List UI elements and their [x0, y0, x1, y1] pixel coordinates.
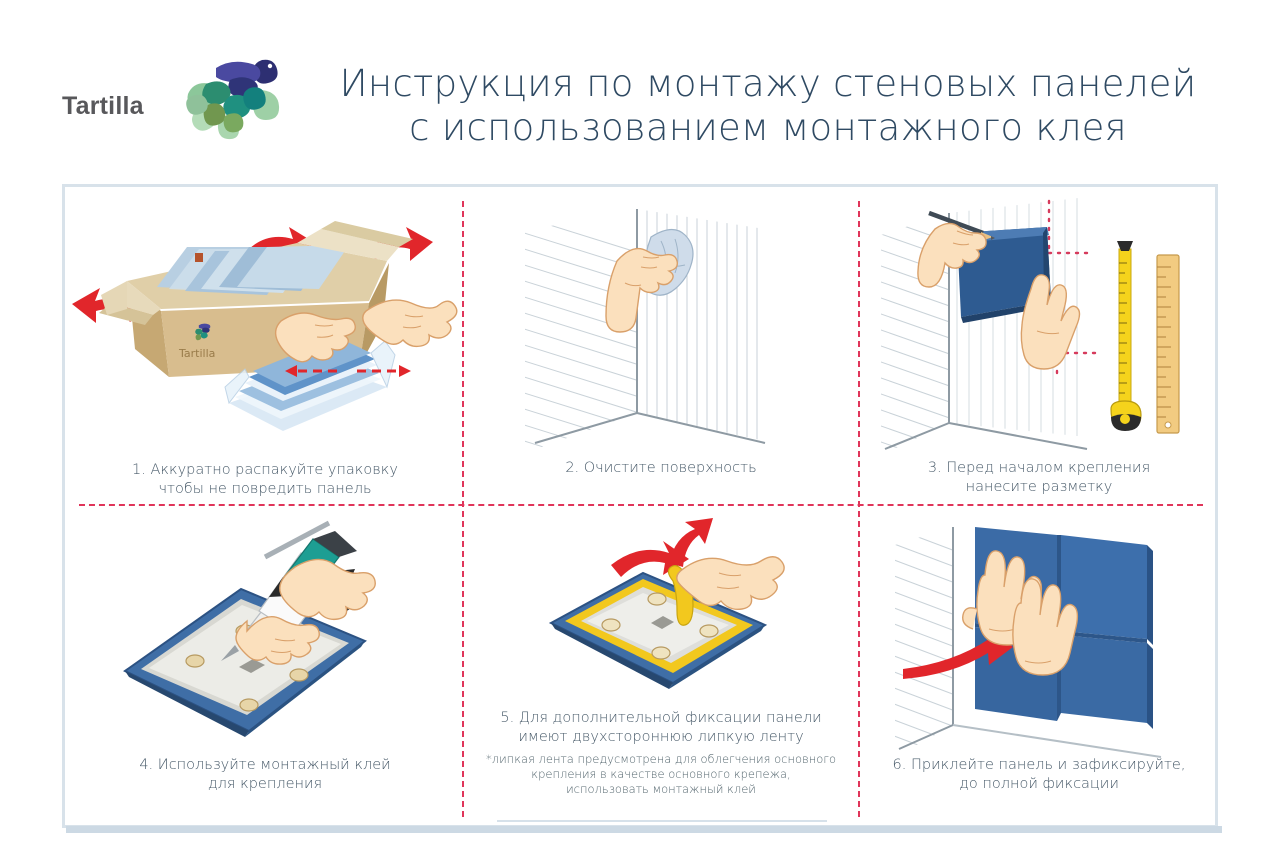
step-5-underline [497, 820, 827, 822]
step-caption-2-line-1: 2. Очистите поверхность [565, 460, 756, 476]
instruction-grid: Tartilla [62, 184, 1218, 828]
step-caption-3-line-2: нанесите разметку [966, 479, 1113, 495]
step-caption-6-line-2: до полной фиксации [959, 776, 1119, 792]
illustration-pressing-panels-on-wall [861, 513, 1217, 757]
step-5-footnote-line-1: *липкая лента предусмотрена для облегчен… [486, 752, 836, 766]
tape-measure-icon [1111, 241, 1141, 431]
step-caption-2: 2. Очистите поверхность [465, 459, 857, 478]
grid-divider-vertical-1 [462, 201, 464, 817]
step-5-footnote-line-2: крепления в качестве основного крепежа, [531, 767, 790, 781]
ruler-icon [1157, 255, 1179, 433]
illustration-hand-wiping-wall [465, 191, 857, 463]
step-caption-1-line-1: 1. Аккуратно распакуйте упаковку [132, 462, 398, 478]
step-caption-1-line-2: чтобы не повредить панель [158, 481, 371, 497]
brand-name: Tartilla [62, 92, 144, 121]
step-caption-1: 1. Аккуратно распакуйте упаковку чтобы н… [69, 461, 461, 499]
illustration-marking-with-pencil-ruler-tape [861, 191, 1217, 463]
step-caption-4-line-2: для крепления [208, 776, 322, 792]
step-cell-1: Tartilla [69, 191, 461, 503]
hand-right-icon [363, 300, 457, 346]
step-caption-5-line-1: 5. Для дополнительной фиксации панели [500, 710, 821, 726]
illustration-open-box-remove-film: Tartilla [69, 191, 461, 461]
step-5-footnote-line-3: использовать монтажный клей [566, 782, 756, 796]
grid-divider-horizontal [79, 504, 1203, 506]
step-cell-3: 3. Перед началом крепления нанесите разм… [861, 191, 1217, 503]
step-cell-4: 4. Используйте монтажный клей для крепле… [69, 509, 461, 823]
step-caption-4: 4. Используйте монтажный клей для крепле… [69, 756, 461, 794]
page-title: Инструкция по монтажу стеновых панелей с… [292, 62, 1244, 150]
step-caption-6-line-1: 6. Приклейте панель и зафиксируйте, [893, 757, 1186, 773]
step-caption-5-line-2: имеют двухстороннюю липкую ленту [518, 729, 803, 745]
box-brand-label: Tartilla [178, 347, 215, 360]
step-5-footnote: *липкая лента предусмотрена для облегчен… [465, 752, 857, 797]
page-header: Tartilla Инструкция по монтажу стеновых … [0, 0, 1280, 178]
frame-bottom-shadow [66, 826, 1222, 833]
page-title-line-1: Инструкция по монтажу стеновых панелей [292, 62, 1244, 106]
step-caption-4-line-1: 4. Используйте монтажный клей [139, 757, 390, 773]
step-caption-3: 3. Перед началом крепления нанесите разм… [861, 459, 1217, 497]
step-cell-2: 2. Очистите поверхность [465, 191, 857, 503]
step-caption-3-line-1: 3. Перед началом крепления [928, 460, 1150, 476]
page-title-line-2: с использованием монтажного клея [292, 106, 1244, 150]
illustration-caulking-gun-on-panel-back [69, 515, 461, 755]
step-caption-6: 6. Приклейте панель и зафиксируйте, до п… [861, 756, 1217, 794]
step-cell-6: 6. Приклейте панель и зафиксируйте, до п… [861, 509, 1217, 823]
grid-divider-vertical-2 [858, 201, 860, 817]
step-caption-5: 5. Для дополнительной фиксации панели им… [465, 709, 857, 797]
hand-holding-gun-icon [280, 559, 375, 619]
turtle-logo-icon [186, 44, 284, 140]
step-cell-5: 5. Для дополнительной фиксации панели им… [465, 509, 857, 823]
illustration-peeling-double-sided-tape [465, 515, 857, 705]
